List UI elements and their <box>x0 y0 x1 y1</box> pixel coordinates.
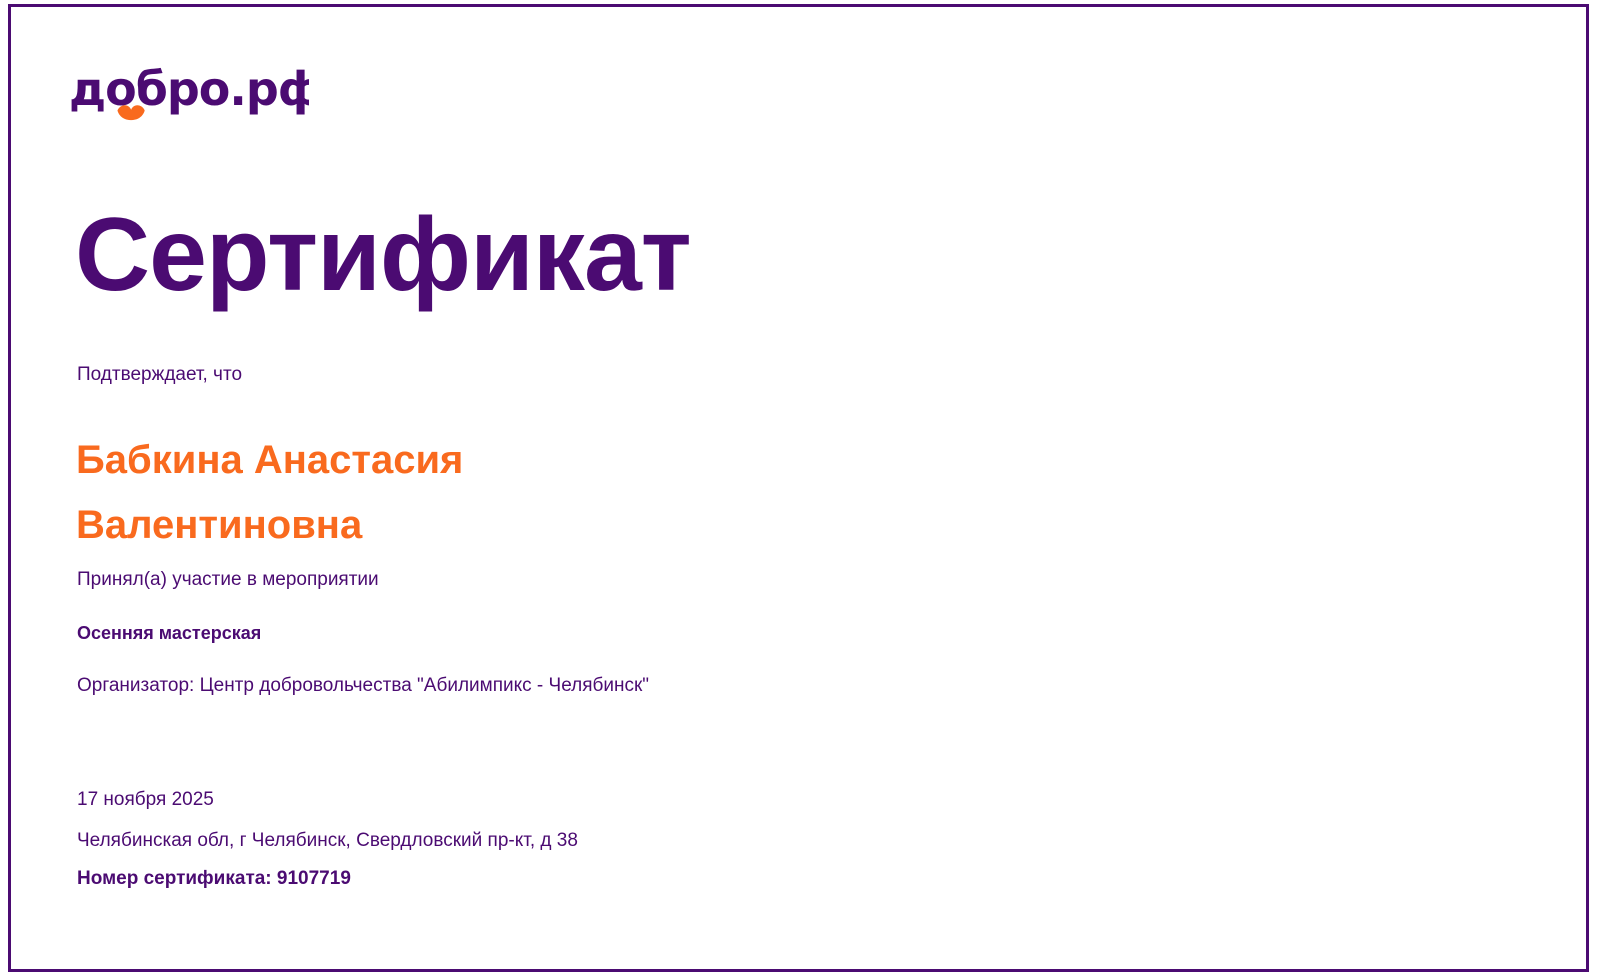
event-name: Осенняя мастерская <box>77 622 261 645</box>
issue-date: 17 ноября 2025 <box>77 788 977 813</box>
issue-address: Челябинская обл, г Челябинск, Свердловск… <box>77 829 977 854</box>
recipient-name: Бабкина Анастасия Валентиновна <box>76 428 676 558</box>
certificate-content: добро.рф Сертификат Подтверждает, что Ба… <box>69 7 1529 969</box>
participation-label: Принял(а) участие в мероприятии <box>77 568 379 593</box>
organizer-line: Организатор: Центр добровольчества "Абил… <box>77 674 649 699</box>
logo-wordmark-text: добро.рф <box>69 63 309 116</box>
certificate-footer: 17 ноября 2025 Челябинская обл, г Челяби… <box>77 788 977 892</box>
certificate-page: добро.рф Сертификат Подтверждает, что Ба… <box>0 0 1600 978</box>
certificate-border-frame: добро.рф Сертификат Подтверждает, что Ба… <box>8 4 1589 972</box>
dobro-rf-logo[interactable]: добро.рф <box>69 63 309 125</box>
confirms-label: Подтверждает, что <box>77 363 242 388</box>
certificate-number: Номер сертификата: 9107719 <box>77 867 977 892</box>
page-title: Сертификат <box>75 201 691 310</box>
